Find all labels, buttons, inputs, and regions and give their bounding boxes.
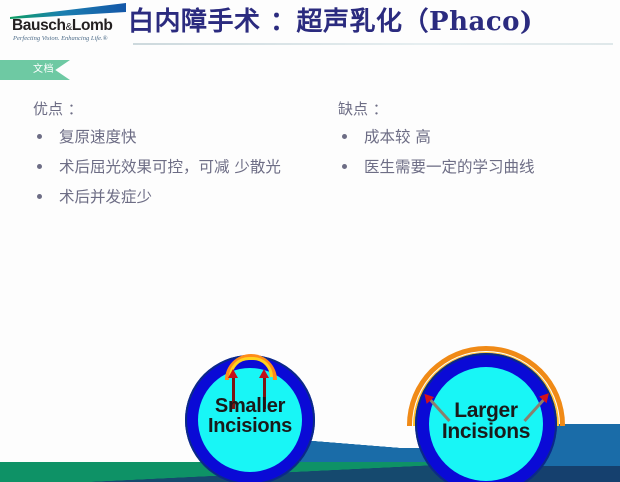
pros-heading: 优点 ： bbox=[33, 96, 333, 122]
logo-tagline: Perfecting Vision. Enhancing Life.® bbox=[13, 35, 131, 42]
pros-item-text: 术后屈光效果可控，可减 少散光 bbox=[59, 158, 281, 176]
smaller-incision-label-line2: Incisions bbox=[185, 416, 315, 436]
cons-list: 成本较 高 医生需要一定的学习曲线 bbox=[338, 125, 613, 180]
bullet-dot-icon bbox=[342, 164, 347, 169]
smaller-incision-label: Smaller Incisions bbox=[185, 396, 315, 437]
smaller-incision-label-line1: Smaller bbox=[185, 396, 315, 416]
list-item: 成本较 高 bbox=[338, 125, 613, 150]
page-title: 白内障手术 ：超声乳化（Phaco) bbox=[128, 1, 616, 43]
cons-column: 缺点 ： 成本较 高 医生需要一定的学习曲线 bbox=[338, 96, 613, 185]
pros-item-text: 复原速度快 bbox=[59, 128, 137, 146]
pros-item-text: 术后并发症少 bbox=[59, 188, 152, 206]
title-divider bbox=[133, 43, 613, 45]
slide-canvas: Bausch&Lomb Perfecting Vision. Enhancing… bbox=[0, 0, 620, 482]
bullet-dot-icon bbox=[37, 194, 42, 199]
larger-incision-eye-diagram: Larger Incisions bbox=[415, 353, 557, 482]
list-item: 术后并发症少 bbox=[33, 185, 333, 210]
cons-heading: 缺点 ： bbox=[338, 96, 613, 122]
bottom-band-blue-right-dark bbox=[548, 466, 620, 482]
logo-word-bausch: Bausch bbox=[12, 17, 66, 34]
bottom-band-blue-right bbox=[548, 424, 620, 482]
list-item: 术后屈光效果可控，可减 少散光 bbox=[33, 155, 333, 180]
list-item: 医生需要一定的学习曲线 bbox=[338, 155, 613, 180]
bullet-dot-icon bbox=[37, 164, 42, 169]
logo-word-lomb: Lomb bbox=[72, 17, 113, 34]
cons-item-text: 成本较 高 bbox=[364, 128, 431, 146]
logo-wordmark: Bausch&Lomb bbox=[12, 17, 128, 35]
pros-column: 优点 ： 复原速度快 术后屈光效果可控，可减 少散光 术后并发症少 bbox=[33, 96, 333, 215]
larger-incision-label-line2: Incisions bbox=[415, 421, 557, 442]
larger-incision-label-line1: Larger bbox=[415, 400, 557, 421]
bullet-dot-icon bbox=[37, 134, 42, 139]
cons-item-text: 医生需要一定的学习曲线 bbox=[364, 158, 535, 176]
pros-list: 复原速度快 术后屈光效果可控，可减 少散光 术后并发症少 bbox=[33, 125, 333, 210]
bullet-dot-icon bbox=[342, 134, 347, 139]
larger-incision-label: Larger Incisions bbox=[415, 400, 557, 443]
list-item: 复原速度快 bbox=[33, 125, 333, 150]
document-ribbon-tag: 文档 bbox=[0, 60, 70, 80]
bausch-lomb-logo: Bausch&Lomb Perfecting Vision. Enhancing… bbox=[6, 2, 128, 46]
smaller-incision-eye-diagram: Smaller Incisions bbox=[185, 355, 315, 482]
